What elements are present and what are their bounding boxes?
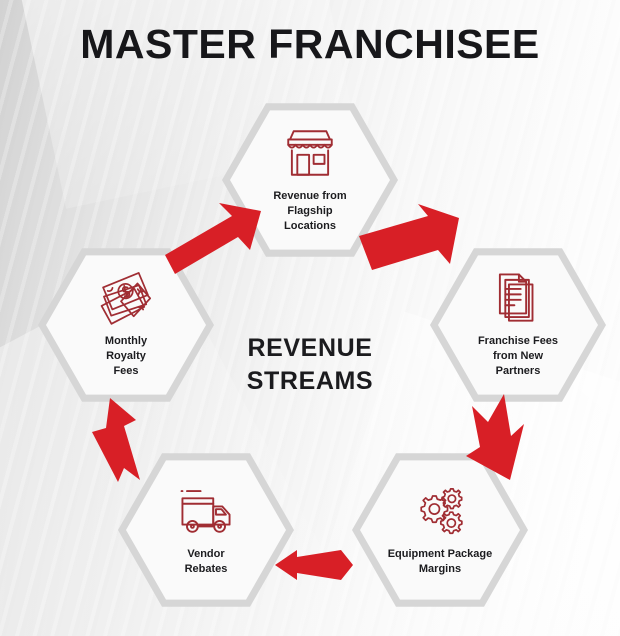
- node-content: Franchise Fees from New Partners: [452, 271, 584, 378]
- node-label: Franchise Fees from New Partners: [478, 334, 558, 378]
- arrow-franchise-to-equipment: [462, 392, 530, 488]
- arrow-equipment-to-vendor: [275, 548, 355, 582]
- documents-icon: [489, 271, 547, 325]
- delivery-truck-icon: [177, 484, 235, 538]
- arrow-vendor-to-royalty: [88, 396, 150, 488]
- node-label: Monthly Royalty Fees: [105, 334, 147, 378]
- gears-icon: [411, 484, 469, 538]
- node-label: Equipment Package Margins: [388, 547, 493, 576]
- node-label: Vendor Rebates: [185, 547, 228, 576]
- node-content: Monthly Royalty Fees: [60, 271, 192, 378]
- page-title: MASTER FRANCHISEE: [0, 22, 620, 67]
- storefront-icon: [281, 126, 339, 180]
- infographic-canvas: MASTER FRANCHISEE REVENUE STREAMS: [0, 0, 620, 636]
- node-content: Vendor Rebates: [140, 484, 272, 576]
- node-content: Equipment Package Margins: [374, 484, 506, 576]
- center-label: REVENUE STREAMS: [200, 332, 420, 399]
- node-label: Revenue from Flagship Locations: [273, 189, 346, 233]
- arrow-flagship-to-franchise: [358, 202, 466, 280]
- cash-banknotes-icon: [97, 271, 155, 325]
- arrow-royalty-to-flagship: [162, 198, 266, 278]
